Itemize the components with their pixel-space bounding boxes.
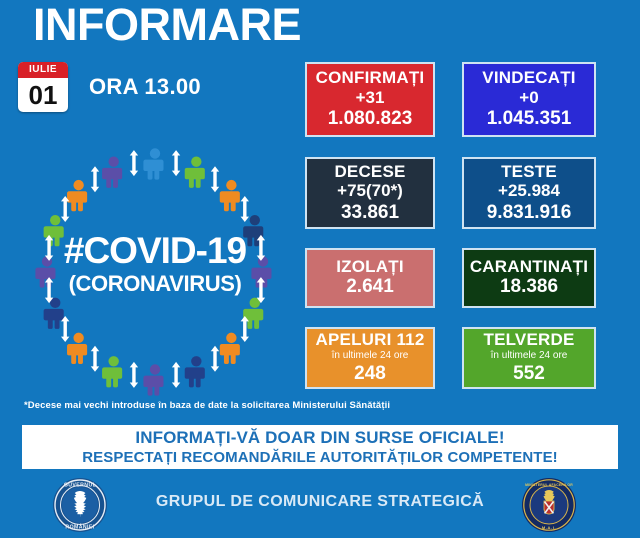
stat-value: 33.861: [341, 202, 399, 225]
ministerul-afacerilor-interne-seal-icon: MINISTERUL AFACERILOR M.A.I.: [521, 477, 577, 533]
stat-label: TESTE: [501, 162, 557, 182]
guvernul-romaniei-seal-icon: GUVERNUL ROMÂNIEI: [52, 477, 108, 533]
svg-text:GUVERNUL: GUVERNUL: [64, 483, 97, 489]
stat-box-carantinati: CARANTINAȚI 18.386: [462, 248, 596, 308]
stat-value: 552: [513, 363, 545, 386]
stat-box-vindecati: VINDECAȚI +0 1.045.351: [462, 62, 596, 137]
stat-box-decese: DECESE +75(70*) 33.861: [305, 157, 435, 229]
stat-box-apeluri-112: APELURI 112 în ultimele 24 ore 248: [305, 327, 435, 389]
calendar-month-label: IULIE: [18, 62, 68, 78]
date-row: IULIE 01 ORA 13.00: [18, 62, 201, 112]
stat-box-confirmati: CONFIRMAȚI +31 1.080.823: [305, 62, 435, 137]
footer: GUVERNUL ROMÂNIEI GRUPUL DE COMUNICARE S…: [0, 473, 640, 538]
hour-label: ORA 13.00: [89, 74, 201, 100]
official-sources-banner: INFORMAȚI-VĂ DOAR DIN SURSE OFICIALE! RE…: [22, 425, 618, 469]
stat-box-telverde: TELVERDE în ultimele 24 ore 552: [462, 327, 596, 389]
svg-text:M.A.I.: M.A.I.: [542, 525, 556, 530]
stat-label: CARANTINAȚI: [470, 257, 588, 277]
stat-delta: +75(70*): [337, 181, 403, 201]
stat-box-teste: TESTE +25.984 9.831.916: [462, 157, 596, 229]
stat-box-izolati: IZOLAȚI 2.641: [305, 248, 435, 308]
stat-value: 1.080.823: [328, 108, 413, 131]
footer-title: GRUPUL DE COMUNICARE STRATEGICĂ: [148, 493, 492, 511]
stat-value: 9.831.916: [487, 202, 572, 225]
svg-text:ROMÂNIEI: ROMÂNIEI: [65, 524, 94, 531]
stat-label: TELVERDE: [483, 330, 574, 350]
stat-delta: +25.984: [498, 181, 560, 201]
calendar-day-label: 01: [18, 78, 68, 112]
stat-value: 18.386: [500, 276, 558, 299]
people-ring-icon: #COVID-19 (CORONAVIRUS): [22, 140, 288, 398]
stat-delta: +0: [519, 88, 538, 108]
stat-label: CONFIRMAȚI: [316, 68, 425, 88]
stat-label: DECESE: [334, 162, 405, 182]
banner-line-2: RESPECTAȚI RECOMANDĂRILE AUTORITĂȚILOR C…: [82, 449, 558, 466]
stat-sublabel: în ultimele 24 ore: [491, 349, 568, 363]
stat-label: IZOLAȚI: [336, 257, 404, 277]
stat-value: 1.045.351: [487, 108, 572, 131]
stat-value: 2.641: [346, 276, 394, 299]
stat-delta: +31: [356, 88, 385, 108]
svg-text:MINISTERUL AFACERILOR: MINISTERUL AFACERILOR: [525, 483, 573, 487]
page-title: INFORMARE: [33, 2, 301, 47]
banner-line-1: INFORMAȚI-VĂ DOAR DIN SURSE OFICIALE!: [135, 428, 504, 448]
stat-label: VINDECAȚI: [482, 68, 575, 88]
footnote: *Decese mai vechi introduse în baza de d…: [24, 400, 390, 411]
stat-value: 248: [354, 363, 386, 386]
calendar-icon: IULIE 01: [18, 62, 68, 112]
stat-sublabel: în ultimele 24 ore: [332, 349, 409, 363]
stat-label: APELURI 112: [316, 330, 425, 350]
